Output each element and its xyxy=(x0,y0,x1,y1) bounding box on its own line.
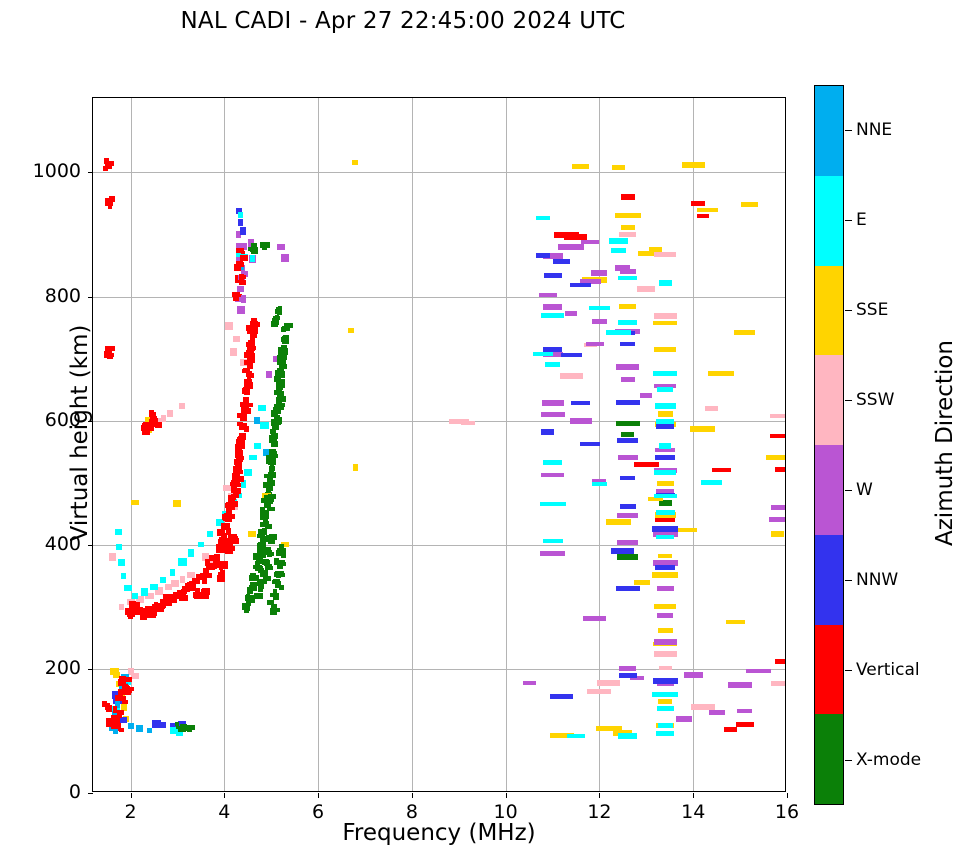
x-tick-label: 12 xyxy=(569,801,629,823)
scatter-point xyxy=(653,371,677,376)
scatter-point xyxy=(656,731,674,736)
scatter-point xyxy=(265,524,272,529)
scatter-point xyxy=(541,473,564,477)
scatter-point xyxy=(161,415,166,422)
colorbar-segment-e[interactable] xyxy=(815,176,843,266)
scatter-point xyxy=(244,469,252,476)
scatter-point xyxy=(728,682,752,688)
scatter-point xyxy=(541,313,564,318)
scatter-point xyxy=(746,669,771,673)
scatter-point xyxy=(103,166,108,171)
scatter-point xyxy=(734,330,755,335)
scatter-point xyxy=(260,507,265,513)
scatter-point xyxy=(271,430,276,436)
scatter-point xyxy=(653,321,677,325)
scatter-point xyxy=(202,579,207,584)
colorbar-label-nnw: NNW xyxy=(856,570,898,590)
scatter-point xyxy=(587,689,611,694)
colorbar-label-e: E xyxy=(856,210,867,230)
scatter-point xyxy=(640,393,652,398)
scatter-point xyxy=(226,528,231,535)
scatter-point xyxy=(634,580,650,585)
scatter-point xyxy=(655,565,675,570)
scatter-point xyxy=(167,410,173,417)
scatter-point xyxy=(656,419,674,424)
scatter-point xyxy=(188,549,194,557)
scatter-point xyxy=(591,270,607,276)
scatter-point xyxy=(258,405,266,411)
scatter-point xyxy=(586,342,604,346)
colorbar-tick xyxy=(845,490,852,491)
scatter-point xyxy=(167,599,172,606)
scatter-point xyxy=(271,466,275,471)
y-tick xyxy=(88,669,93,670)
scatter-point xyxy=(225,322,233,330)
scatter-point xyxy=(771,531,784,537)
scatter-point xyxy=(265,514,269,519)
scatter-point xyxy=(226,547,233,551)
scatter-point xyxy=(284,348,288,355)
scatter-point xyxy=(237,422,243,426)
x-tick xyxy=(506,793,507,798)
scatter-point xyxy=(266,459,273,464)
scatter-point xyxy=(543,304,562,310)
scatter-point xyxy=(258,542,263,546)
colorbar-label-sse: SSE xyxy=(856,300,888,320)
scatter-point xyxy=(571,401,590,405)
scatter-point xyxy=(271,534,277,540)
scatter-point xyxy=(237,437,243,442)
scatter-point xyxy=(583,616,606,621)
scatter-point xyxy=(248,373,254,378)
scatter-point xyxy=(124,585,132,591)
scatter-point xyxy=(132,593,138,599)
scatter-point xyxy=(654,313,677,319)
scatter-point xyxy=(536,216,550,220)
scatter-point xyxy=(141,588,148,596)
colorbar-tick xyxy=(845,130,852,131)
scatter-point xyxy=(154,602,158,607)
scatter-point xyxy=(353,464,358,471)
scatter-point xyxy=(128,723,134,729)
scatter-point xyxy=(709,710,725,715)
scatter-point xyxy=(724,727,737,732)
scatter-point xyxy=(150,584,158,590)
y-tick-label: 800 xyxy=(1,285,81,307)
scatter-point xyxy=(658,554,672,558)
scatter-point xyxy=(109,161,114,166)
scatter-point xyxy=(461,421,475,425)
scatter-point xyxy=(273,451,277,457)
scatter-point xyxy=(279,585,284,590)
scatter-point xyxy=(160,577,166,583)
scatter-point xyxy=(352,160,358,165)
scatter-point xyxy=(617,438,638,443)
scatter-point xyxy=(263,576,271,581)
colorbar-segment-vertical[interactable] xyxy=(815,625,843,715)
colorbar-tick xyxy=(845,580,852,581)
chart-title: NAL CADI - Apr 27 22:45:00 2024 UTC xyxy=(0,8,806,34)
y-tick xyxy=(88,421,93,422)
scatter-point xyxy=(181,589,187,594)
scatter-point xyxy=(658,699,672,704)
scatter-point xyxy=(737,709,752,713)
colorbar-tick xyxy=(845,220,852,221)
scatter-point xyxy=(258,568,264,573)
scatter-point xyxy=(186,725,194,730)
scatter-point xyxy=(697,214,709,218)
scatter-point xyxy=(247,587,253,592)
x-tick-label: 4 xyxy=(194,801,254,823)
scatter-point xyxy=(195,588,200,595)
scatter-point xyxy=(621,225,635,230)
scatter-point xyxy=(619,304,636,309)
scatter-point xyxy=(175,722,179,726)
scatter-point xyxy=(684,672,703,678)
scatter-point xyxy=(621,377,635,382)
scatter-point xyxy=(567,734,585,738)
scatter-point xyxy=(616,586,640,591)
x-tick-label: 16 xyxy=(757,801,817,823)
scatter-point xyxy=(775,467,785,472)
colorbar[interactable] xyxy=(814,85,844,805)
scatter-point xyxy=(152,720,161,728)
scatter-point xyxy=(274,608,280,612)
colorbar-segment-nnw[interactable] xyxy=(815,535,843,625)
scatter-point xyxy=(183,595,188,601)
colorbar-tick xyxy=(845,400,852,401)
scatter-point xyxy=(654,604,676,609)
scatter-point xyxy=(282,364,287,369)
scatter-point xyxy=(258,529,265,534)
scatter-point xyxy=(250,573,256,579)
scatter-point xyxy=(263,242,267,248)
scatter-point xyxy=(277,244,285,250)
scatter-point xyxy=(690,426,715,432)
scatter-point xyxy=(242,369,250,373)
scatter-point xyxy=(278,417,282,424)
x-tick-label: 14 xyxy=(663,801,723,823)
colorbar-segment-nne[interactable] xyxy=(815,86,843,176)
scatter-marks-layer xyxy=(93,98,785,791)
scatter-point xyxy=(657,586,674,591)
scatter-point xyxy=(120,696,126,701)
scatter-point xyxy=(619,673,637,678)
scatter-point xyxy=(536,253,550,258)
scatter-point xyxy=(233,336,240,342)
scatter-point xyxy=(277,564,283,569)
scatter-point xyxy=(198,542,204,547)
scatter-point xyxy=(116,544,122,550)
scatter-point xyxy=(620,504,636,509)
scatter-point xyxy=(637,286,655,292)
scatter-point xyxy=(652,572,678,578)
colorbar-label-nne: NNE xyxy=(856,120,892,140)
scatter-point xyxy=(204,592,209,599)
scatter-point xyxy=(691,201,705,206)
scatter-point xyxy=(131,500,139,505)
scatter-point xyxy=(136,725,143,732)
scatter-point xyxy=(652,692,678,697)
scatter-point xyxy=(171,580,179,587)
scatter-point xyxy=(281,254,289,262)
scatter-point xyxy=(597,680,620,686)
scatter-point xyxy=(119,728,124,732)
colorbar-title: Azimuth Direction xyxy=(932,123,958,763)
scatter-point xyxy=(108,204,112,209)
scatter-point xyxy=(592,319,607,324)
scatter-point xyxy=(654,470,676,475)
scatter-point xyxy=(726,620,745,624)
y-tick-label: 600 xyxy=(1,409,81,431)
scatter-point xyxy=(238,219,243,226)
scatter-point xyxy=(244,352,251,358)
scatter-point xyxy=(200,573,204,579)
colorbar-label-w: W xyxy=(856,480,873,500)
scatter-point xyxy=(236,248,244,253)
scatter-point xyxy=(240,227,246,235)
scatter-point xyxy=(712,468,731,472)
x-tick xyxy=(412,793,413,798)
scatter-point xyxy=(258,585,263,592)
scatter-point xyxy=(606,330,631,335)
x-tick xyxy=(787,793,788,798)
scatter-point xyxy=(619,666,636,671)
colorbar-segment-x-mode[interactable] xyxy=(815,714,843,804)
scatter-point xyxy=(241,295,246,303)
scatter-point xyxy=(233,295,239,299)
x-tick xyxy=(131,793,132,798)
scatter-point xyxy=(240,255,248,261)
scatter-point xyxy=(572,164,589,169)
scatter-point xyxy=(247,382,253,389)
scatter-point xyxy=(277,369,283,374)
scatter-point xyxy=(147,728,152,733)
scatter-point xyxy=(655,448,675,452)
scatter-point xyxy=(634,462,659,467)
scatter-point xyxy=(275,315,279,320)
scatter-point xyxy=(654,651,677,657)
scatter-point xyxy=(616,400,640,405)
scatter-point xyxy=(118,559,125,566)
scatter-point xyxy=(659,280,672,286)
scatter-point xyxy=(169,594,174,600)
scatter-point xyxy=(110,668,119,675)
scatter-point xyxy=(270,480,275,485)
scatter-point xyxy=(161,722,166,728)
scatter-point xyxy=(257,593,263,599)
scatter-point xyxy=(618,733,637,739)
scatter-point xyxy=(220,575,225,582)
scatter-point xyxy=(285,323,293,328)
ionogram-plot-area: 24681012141602004006008001000 xyxy=(92,97,786,792)
scatter-point xyxy=(244,426,249,432)
scatter-point xyxy=(659,443,671,449)
scatter-point xyxy=(616,421,640,426)
scatter-point xyxy=(120,717,127,723)
scatter-point xyxy=(617,554,638,560)
scatter-point xyxy=(705,406,718,411)
scatter-point xyxy=(273,407,280,413)
scatter-point xyxy=(701,480,722,485)
scatter-point xyxy=(657,613,673,618)
scatter-point xyxy=(612,165,625,170)
scatter-point xyxy=(533,352,553,356)
scatter-point xyxy=(234,264,241,271)
scatter-point xyxy=(119,604,124,610)
scatter-point xyxy=(653,678,678,684)
scatter-point xyxy=(654,494,677,498)
scatter-point xyxy=(221,561,226,566)
colorbar-label-vertical: Vertical xyxy=(856,660,920,680)
scatter-point xyxy=(277,308,282,315)
scatter-point xyxy=(192,578,200,582)
scatter-point xyxy=(254,443,261,449)
x-axis-title: Frequency (MHz) xyxy=(92,820,786,846)
scatter-point xyxy=(770,414,785,418)
scatter-point xyxy=(249,455,257,460)
colorbar-segment-w[interactable] xyxy=(815,445,843,535)
scatter-point xyxy=(190,586,195,591)
scatter-point xyxy=(115,529,122,535)
x-tick-label: 10 xyxy=(476,801,536,823)
scatter-point xyxy=(246,408,251,414)
colorbar-segment-sse[interactable] xyxy=(815,266,843,356)
scatter-point xyxy=(609,238,628,244)
scatter-point xyxy=(245,606,250,611)
colorbar-tick xyxy=(845,760,852,761)
scatter-point xyxy=(570,283,591,287)
y-tick-label: 1000 xyxy=(1,160,81,182)
scatter-point xyxy=(250,255,255,262)
scatter-point xyxy=(239,280,246,285)
scatter-point xyxy=(104,158,109,164)
scatter-point xyxy=(543,539,563,543)
scatter-point xyxy=(769,517,785,522)
scatter-point xyxy=(541,429,554,435)
scatter-point xyxy=(606,519,631,525)
scatter-point xyxy=(163,594,167,598)
y-tick xyxy=(88,297,93,298)
scatter-point xyxy=(152,611,157,616)
scatter-point xyxy=(262,559,269,565)
scatter-point xyxy=(242,410,246,414)
y-tick-label: 200 xyxy=(1,657,81,679)
scatter-point xyxy=(265,564,272,570)
scatter-point xyxy=(619,232,636,237)
scatter-point xyxy=(165,584,172,590)
scatter-point xyxy=(617,513,638,518)
scatter-point xyxy=(766,455,785,460)
scatter-point xyxy=(654,252,676,257)
scatter-point xyxy=(657,387,673,392)
scatter-point xyxy=(558,244,584,250)
scatter-point xyxy=(652,526,678,532)
scatter-point xyxy=(173,500,181,507)
scatter-point xyxy=(212,563,217,569)
scatter-point xyxy=(237,467,242,472)
colorbar-label-ssw: SSW xyxy=(856,390,894,410)
scatter-point xyxy=(565,311,577,316)
scatter-point xyxy=(618,276,637,280)
scatter-point xyxy=(122,686,130,691)
y-tick xyxy=(88,172,93,173)
scatter-point xyxy=(657,481,674,486)
scatter-point xyxy=(771,505,785,510)
scatter-point xyxy=(550,694,573,699)
scatter-point xyxy=(117,710,124,715)
scatter-point xyxy=(227,538,234,544)
scatter-point xyxy=(655,455,675,460)
y-tick-label: 0 xyxy=(1,781,81,803)
scatter-point xyxy=(658,411,673,417)
scatter-point xyxy=(225,503,229,508)
scatter-point xyxy=(254,417,260,424)
scatter-point xyxy=(257,579,262,584)
scatter-point xyxy=(539,293,557,297)
colorbar-segment-ssw[interactable] xyxy=(815,355,843,445)
scatter-point xyxy=(149,410,154,417)
x-tick xyxy=(693,793,694,798)
x-tick xyxy=(318,793,319,798)
scatter-point xyxy=(736,722,754,727)
scatter-point xyxy=(611,248,626,253)
scatter-point xyxy=(279,544,284,550)
scatter-point xyxy=(121,573,126,579)
scatter-point xyxy=(615,213,641,218)
scatter-point xyxy=(543,460,562,465)
scatter-point xyxy=(655,403,676,409)
scatter-point xyxy=(243,399,249,404)
scatter-point xyxy=(553,259,570,264)
scatter-point xyxy=(235,452,243,458)
scatter-point xyxy=(775,659,785,664)
scatter-point xyxy=(250,346,256,350)
scatter-point xyxy=(741,202,758,207)
scatter-point xyxy=(237,483,241,487)
x-tick xyxy=(224,793,225,798)
scatter-point xyxy=(561,353,582,357)
scatter-point xyxy=(544,273,562,278)
scatter-point xyxy=(248,531,256,537)
scatter-point xyxy=(658,723,673,728)
scatter-point xyxy=(592,482,607,486)
scatter-point xyxy=(106,705,112,712)
scatter-point xyxy=(560,373,583,379)
scatter-point xyxy=(237,306,245,314)
scatter-point xyxy=(281,552,286,558)
scatter-point xyxy=(615,265,630,271)
x-tick xyxy=(599,793,600,798)
scatter-point xyxy=(655,517,675,522)
scatter-point xyxy=(682,162,705,168)
colorbar-tick xyxy=(845,310,852,311)
scatter-point xyxy=(654,347,676,352)
scatter-point xyxy=(105,350,110,355)
scatter-point xyxy=(281,327,286,332)
scatter-point xyxy=(276,384,283,390)
scatter-point xyxy=(281,337,286,342)
scatter-point xyxy=(618,320,637,325)
scatter-point xyxy=(207,573,212,578)
scatter-point xyxy=(272,580,280,584)
scatter-point xyxy=(274,390,280,395)
scatter-point xyxy=(178,558,187,566)
scatter-point xyxy=(170,727,176,734)
scatter-point xyxy=(620,476,635,480)
scatter-point xyxy=(260,422,269,429)
scatter-point xyxy=(620,342,635,346)
